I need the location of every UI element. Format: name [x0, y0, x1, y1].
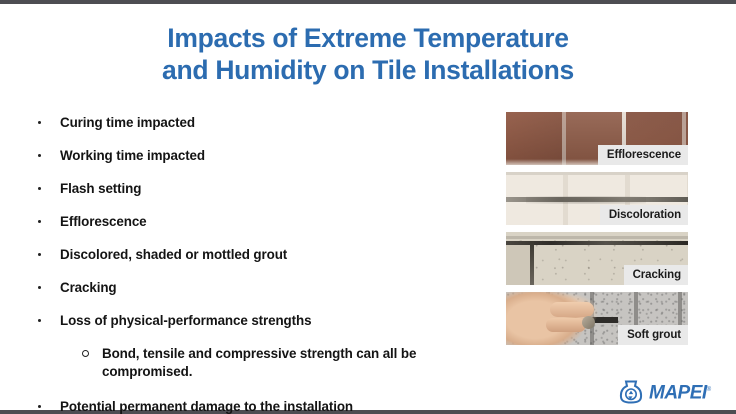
mapei-wordmark: MAPEI® — [649, 380, 711, 403]
mapei-wordmark-text: MAPEI — [649, 383, 707, 404]
slide-title-line-2: and Humidity on Tile Installations — [0, 54, 736, 86]
sub-bullet-marker-icon — [80, 345, 102, 363]
slide-title-line-1: Impacts of Extreme Temperature — [0, 22, 736, 54]
registered-trademark-icon: ® — [707, 387, 711, 393]
bullet-label: Working time impacted — [60, 147, 205, 165]
bullet-marker-icon — [36, 246, 60, 264]
bullet-marker-icon — [36, 279, 60, 297]
sub-bullet-item-bond-tensile-compressive: Bond, tensile and compressive strength c… — [80, 345, 476, 381]
bullet-item-flash-setting: Flash setting — [36, 180, 476, 198]
bullet-item-curing-time: Curing time impacted — [36, 114, 476, 132]
mapei-bag-recycle-icon — [618, 380, 644, 404]
bullet-item-cracking: Cracking — [36, 279, 476, 297]
bullet-marker-icon — [36, 147, 60, 165]
photo-caption-label: Cracking — [624, 265, 688, 285]
bullet-item-working-time: Working time impacted — [36, 147, 476, 165]
bullet-item-permanent-damage: Potential permanent damage to the instal… — [36, 398, 476, 414]
photo-caption-label: Soft grout — [618, 325, 688, 345]
bullet-item-efflorescence: Efflorescence — [36, 213, 476, 231]
bullet-item-loss-of-strengths: Loss of physical-performance strengths — [36, 312, 476, 330]
photo-panel-stack: Efflorescence Discoloration Cracking — [506, 112, 688, 352]
mapei-logo: MAPEI® — [618, 378, 722, 406]
bullet-item-discolored-grout: Discolored, shaded or mottled grout — [36, 246, 476, 264]
bullet-marker-icon — [36, 114, 60, 132]
bullet-label: Loss of physical-performance strengths — [60, 312, 311, 330]
bullet-marker-icon — [36, 180, 60, 198]
photo-caption-label: Discoloration — [600, 205, 688, 225]
bullet-label: Flash setting — [60, 180, 141, 198]
video-player-frame: Impacts of Extreme Temperature and Humid… — [0, 0, 736, 414]
bullet-list: Curing time impacted Working time impact… — [36, 114, 476, 414]
photo-panel-soft-grout: Soft grout — [506, 292, 688, 345]
bullet-marker-icon — [36, 213, 60, 231]
photo-panel-discoloration: Discoloration — [506, 172, 688, 225]
bullet-marker-icon — [36, 398, 60, 414]
photo-panel-efflorescence: Efflorescence — [506, 112, 688, 165]
presentation-slide: Impacts of Extreme Temperature and Humid… — [0, 4, 736, 410]
bullet-marker-icon — [36, 312, 60, 330]
bullet-label: Cracking — [60, 279, 117, 297]
bullet-label: Discolored, shaded or mottled grout — [60, 246, 287, 264]
bullet-label: Curing time impacted — [60, 114, 195, 132]
photo-panel-cracking: Cracking — [506, 232, 688, 285]
slide-title: Impacts of Extreme Temperature and Humid… — [0, 22, 736, 86]
bullet-label: Potential permanent damage to the instal… — [60, 398, 353, 414]
bullet-label: Efflorescence — [60, 213, 147, 231]
sub-bullet-label: Bond, tensile and compressive strength c… — [102, 345, 476, 381]
photo-caption-label: Efflorescence — [598, 145, 688, 165]
